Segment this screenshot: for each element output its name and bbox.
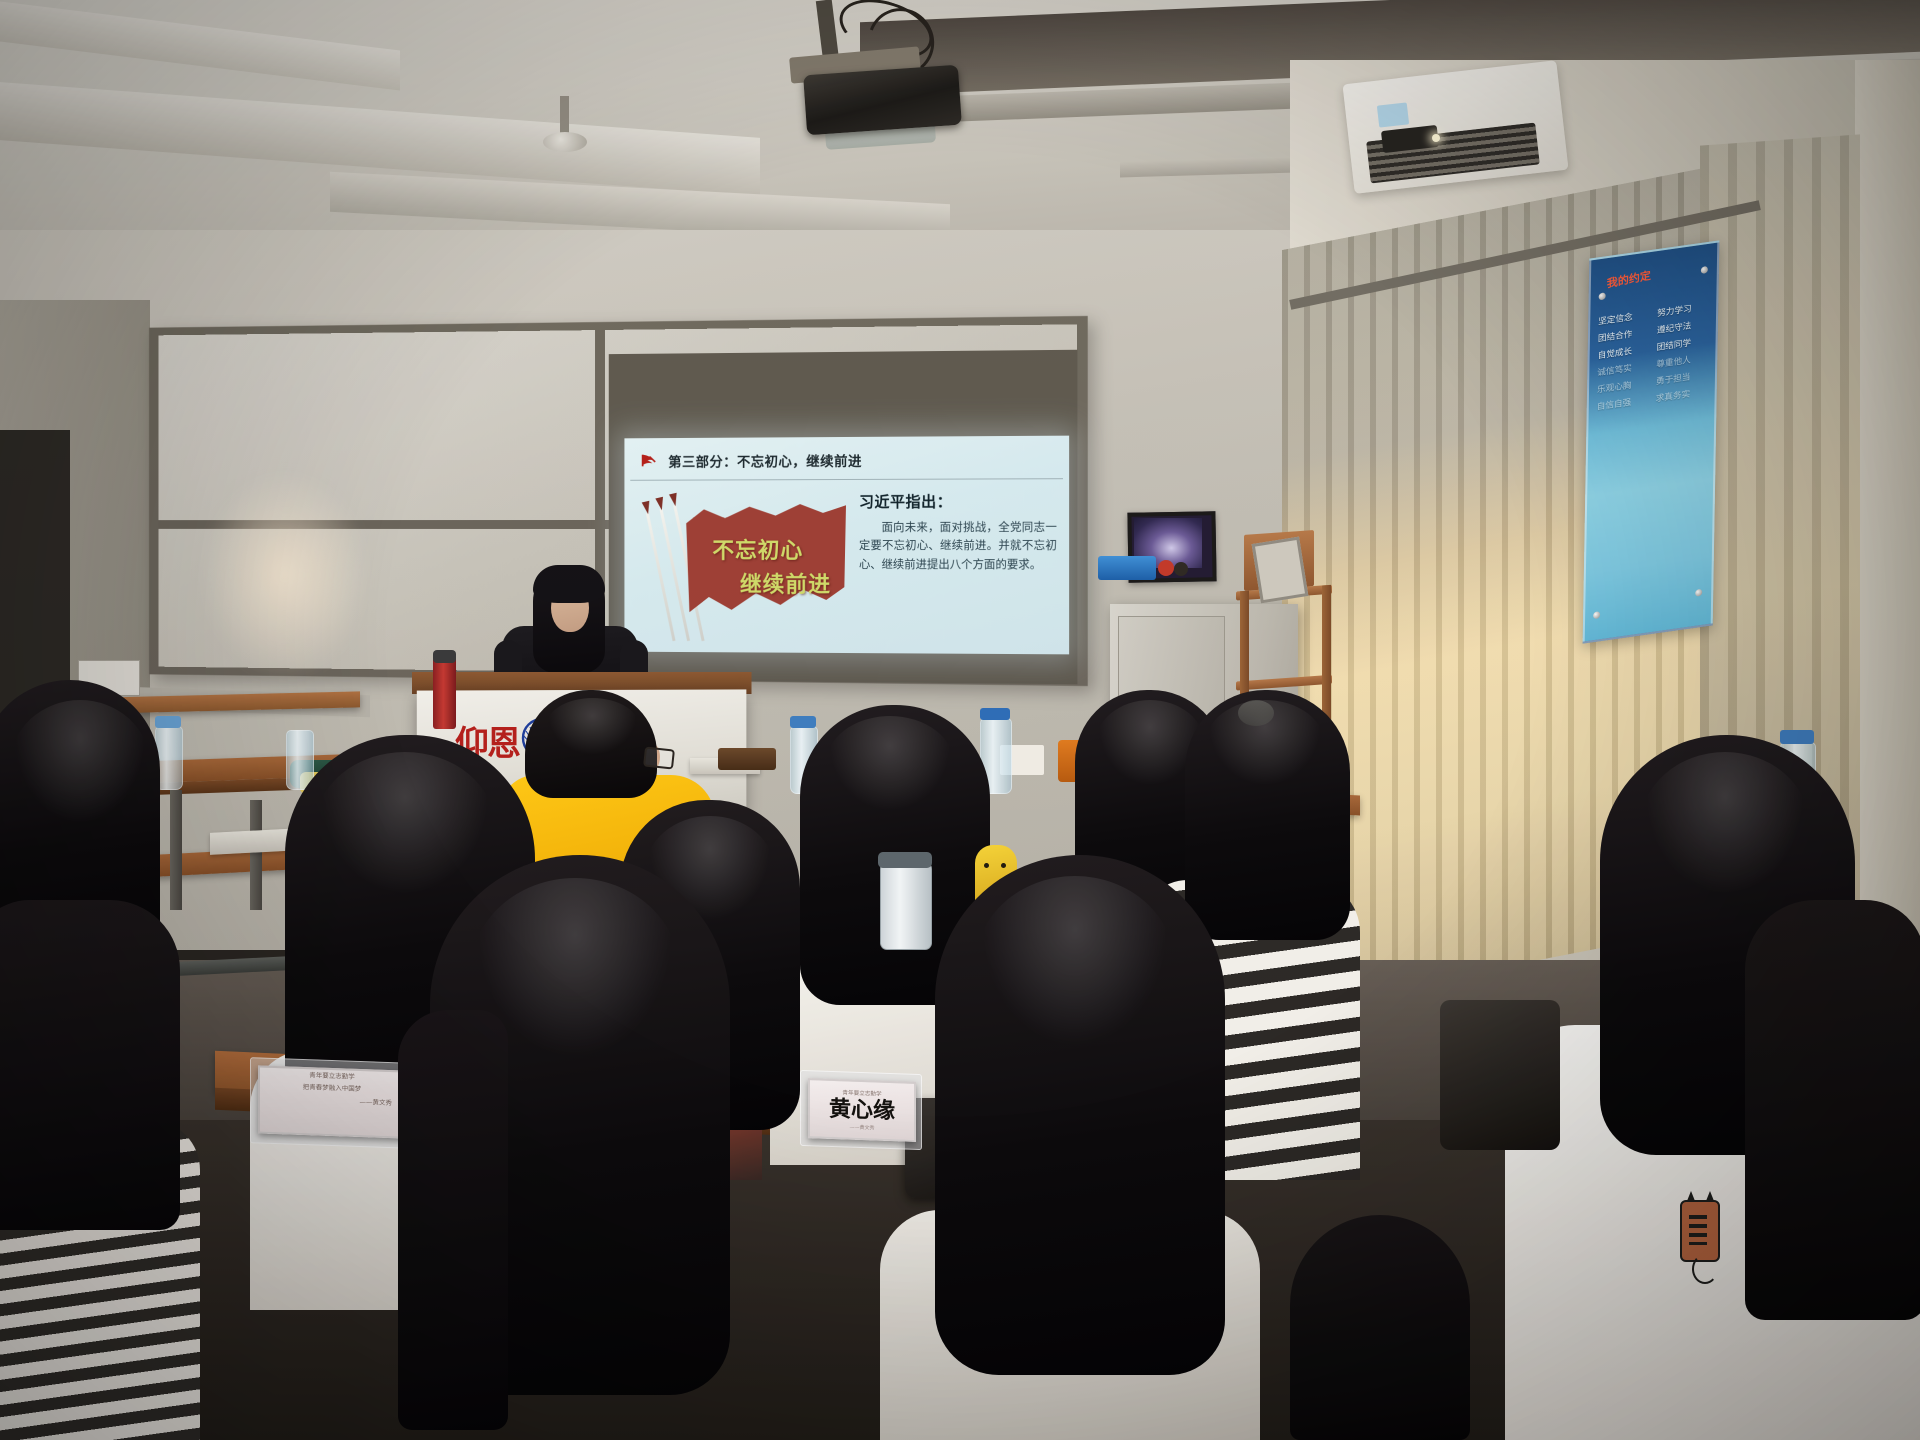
red-thermos-flask — [433, 655, 456, 729]
desk-leg — [170, 790, 182, 910]
slide-header-rule — [630, 478, 1063, 481]
flag-slogan-line2: 继续前进 — [740, 567, 831, 599]
wall-poster: 我的约定 坚定信念 团结合作 自觉成长 诚信笃实 乐观心胸 自信自强 努力学习 … — [1583, 240, 1720, 643]
red-flag-graphic: 不忘初心 继续前进 — [632, 489, 847, 639]
name-card-name: 黄心缘 — [810, 1095, 914, 1126]
slide-body-column: 习近平指出： 面向未来，面对挑战，全党同志一定要不忘初心、继续前进。并就不忘初心… — [859, 490, 1057, 574]
bottle-cap — [155, 716, 181, 728]
student-foreground-head — [1290, 1215, 1470, 1440]
podium-char-2: 恩 — [487, 716, 521, 765]
whiteboard-glare — [200, 470, 370, 680]
party-emblem-icon — [638, 452, 659, 470]
bottle-cap — [790, 716, 816, 728]
wall-poster-left-column: 坚定信念 团结合作 自觉成长 诚信笃实 乐观心胸 自信自强 — [1597, 308, 1652, 413]
slide-header-title: 第三部分：不忘初心，继续前进 — [668, 450, 862, 471]
dark-backpack-right — [1440, 1000, 1560, 1150]
classroom-photo: 我的约定 坚定信念 团结合作 自觉成长 诚信笃实 乐观心胸 自信自强 努力学习 … — [0, 0, 1920, 1440]
name-card-quote: 青年要立志勤学 把青春梦融入中国梦 ——黄文秀 — [258, 1065, 406, 1138]
slide-body-heading: 习近平指出： — [859, 490, 1057, 512]
eyeglasses-icon — [643, 746, 675, 769]
name-card-student: 青年要立志勤学 黄心缘 ——黄文秀 — [808, 1078, 916, 1142]
blue-storage-tray — [1098, 556, 1156, 580]
bottle-cap — [980, 708, 1010, 720]
flag-slogan-line1: 不忘初心 — [712, 533, 803, 565]
wall-poster-right-column: 努力学习 遵纪守法 团结同学 尊重他人 勇于担当 求真务实 — [1656, 300, 1711, 405]
slide-header: 第三部分：不忘初心，继续前进 — [624, 440, 1069, 480]
bottle-cap — [1780, 730, 1814, 744]
wall-poster-title: 我的约定 — [1607, 267, 1652, 291]
tape-roll-dark — [1174, 562, 1188, 576]
desk-leg — [250, 800, 262, 910]
old-monitor — [1252, 537, 1309, 604]
slide-body-paragraph: 面向未来，面对挑战，全党同志一定要不忘初心、继续前进。并就不忘初心、继续前进提出… — [859, 519, 1057, 575]
thermos-cap — [433, 650, 456, 663]
wall-poster-columns: 坚定信念 团结合作 自觉成长 诚信笃实 乐观心胸 自信自强 努力学习 遵纪守法 … — [1597, 300, 1711, 413]
tumbler-lid — [878, 852, 932, 868]
tape-roll-red — [1158, 560, 1174, 576]
projected-slide: 第三部分：不忘初心，继续前进 不忘初心 继续前进 习近平指出： 面向未来，面对挑… — [624, 436, 1069, 655]
brown-box — [718, 748, 776, 770]
travel-tumbler — [880, 862, 932, 950]
